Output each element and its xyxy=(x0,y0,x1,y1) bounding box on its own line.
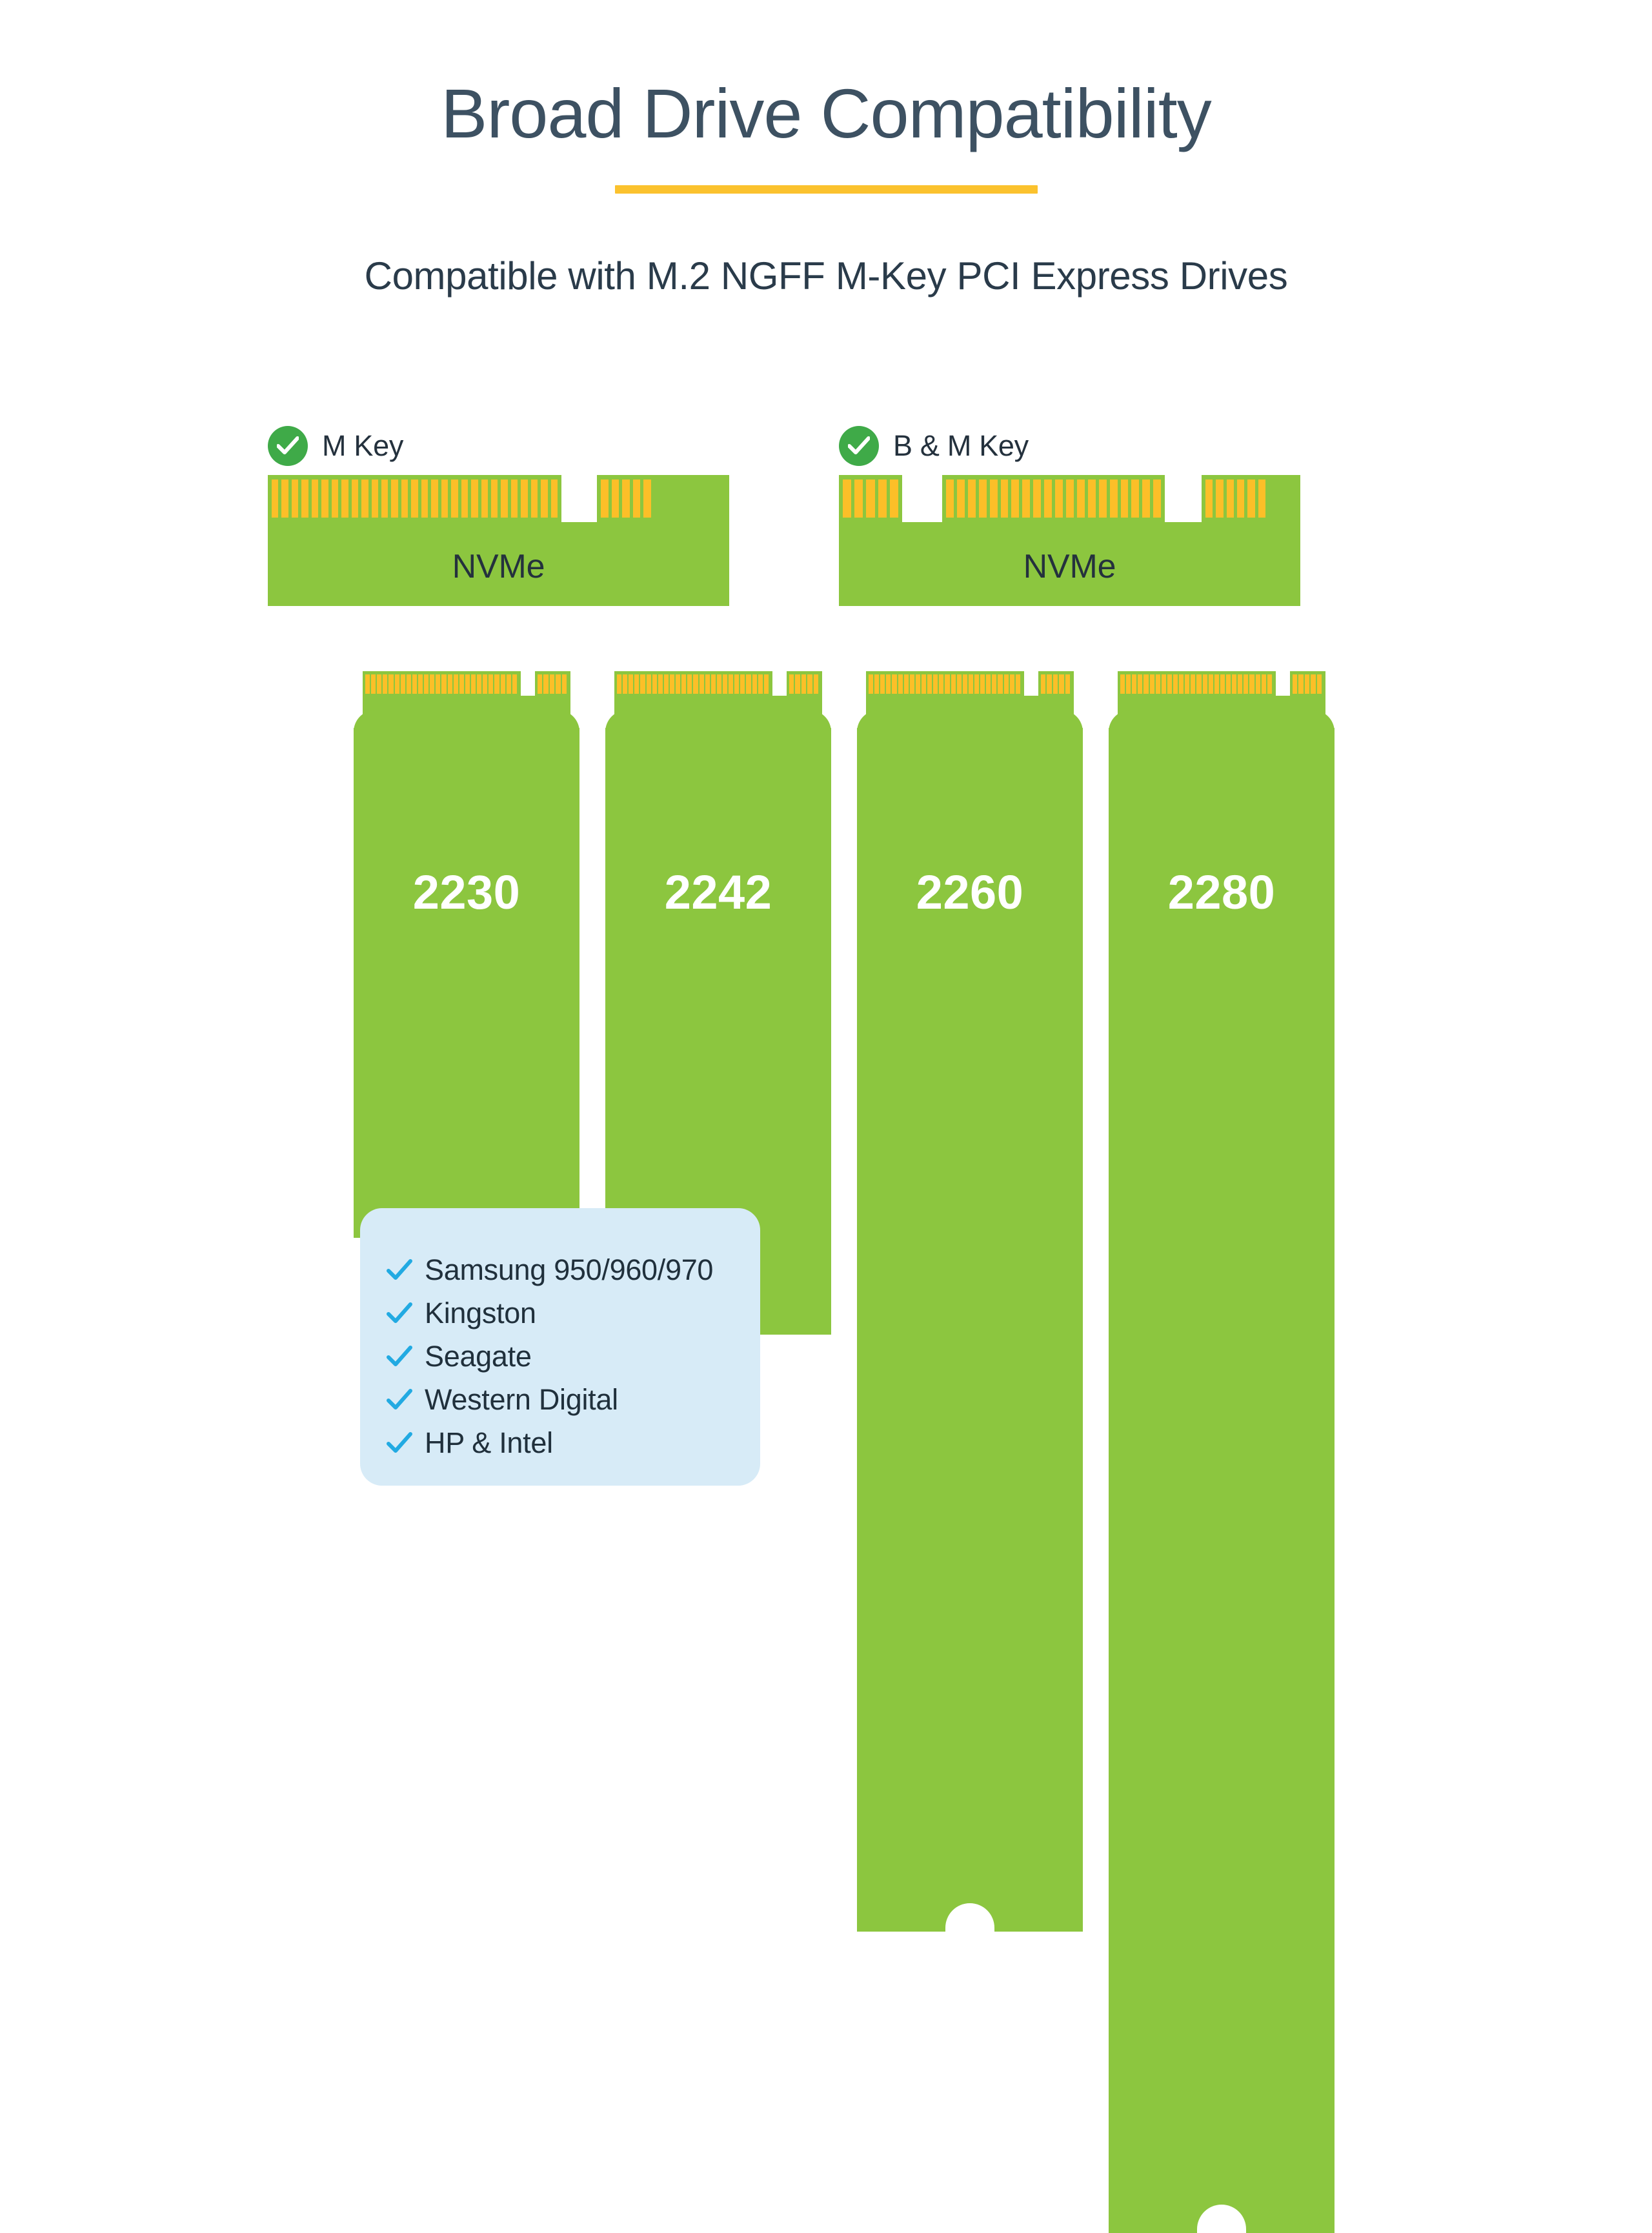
key-notch-gap xyxy=(521,671,535,697)
list-item: HP & Intel xyxy=(385,1421,760,1464)
pin-group-primary xyxy=(1118,671,1276,697)
connector-edge xyxy=(614,671,822,697)
mounting-notch xyxy=(1197,2205,1246,2233)
compatible-brands-panel: Samsung 950/960/970 Kingston Seagate Wes… xyxy=(360,1208,760,1486)
drive-size-label: 2280 xyxy=(1109,865,1335,920)
mounting-notch xyxy=(945,1903,994,1932)
pin-group-secondary xyxy=(1290,671,1325,697)
pin-group-primary xyxy=(866,671,1024,697)
connector-edge xyxy=(1118,671,1325,697)
pin-group-secondary xyxy=(1038,671,1074,697)
list-item: Samsung 950/960/970 xyxy=(385,1248,760,1291)
drive-size-label: 2230 xyxy=(354,865,579,920)
drive-body: 2230 xyxy=(354,728,579,1238)
drive-body: 2280 xyxy=(1109,728,1335,2233)
check-icon xyxy=(385,1342,414,1371)
list-item: Kingston xyxy=(385,1291,760,1335)
brand-label: HP & Intel xyxy=(425,1426,553,1460)
list-item: Seagate xyxy=(385,1335,760,1378)
list-item: Western Digital xyxy=(385,1378,760,1421)
brand-label: Seagate xyxy=(425,1340,532,1373)
brand-label: Samsung 950/960/970 xyxy=(425,1253,713,1287)
connector-edge xyxy=(866,671,1074,697)
pin-group-secondary xyxy=(787,671,822,697)
pin-group-secondary xyxy=(535,671,570,697)
brand-label: Western Digital xyxy=(425,1383,618,1417)
check-icon xyxy=(385,1298,414,1328)
drive-body: 2260 xyxy=(857,728,1083,1932)
check-icon xyxy=(385,1428,414,1458)
pin-group-primary xyxy=(363,671,521,697)
connector-edge xyxy=(363,671,570,697)
key-notch-gap xyxy=(1024,671,1038,697)
brand-label: Kingston xyxy=(425,1297,536,1330)
drive-size-label: 2260 xyxy=(857,865,1083,920)
check-icon xyxy=(385,1255,414,1285)
drive-size-row: 2230 2242 xyxy=(0,0,1652,1652)
pin-group-primary xyxy=(614,671,772,697)
drive-size-label: 2242 xyxy=(605,865,831,920)
key-notch-gap xyxy=(1276,671,1290,697)
check-icon xyxy=(385,1385,414,1415)
key-notch-gap xyxy=(772,671,787,697)
